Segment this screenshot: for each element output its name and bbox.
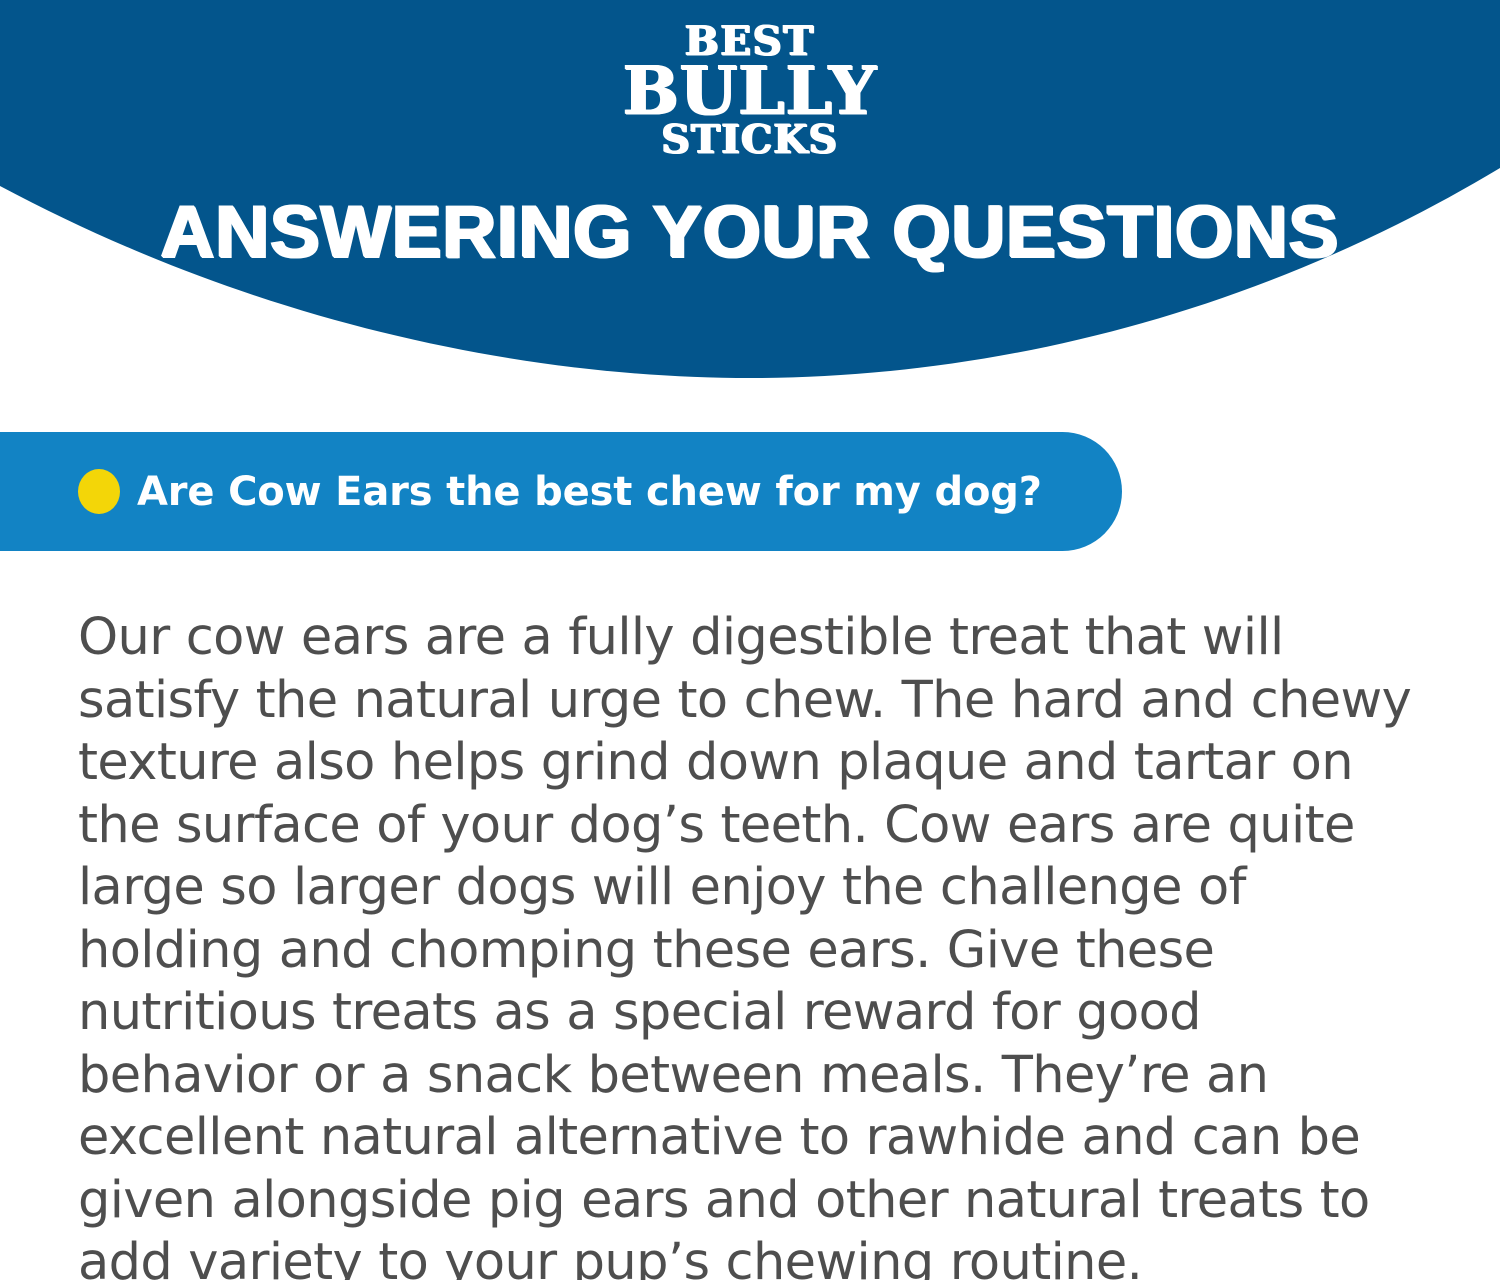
logo-line-bully: BULLY <box>0 58 1500 124</box>
faq-infographic-page: BEST BULLY STICKS ANSWERING YOUR QUESTIO… <box>0 0 1500 1280</box>
faq-answer-text: Our cow ears are a fully digestible trea… <box>78 607 1426 1280</box>
faq-question-bar[interactable]: Are Cow Ears the best chew for my dog? <box>0 432 1122 551</box>
header-banner: BEST BULLY STICKS ANSWERING YOUR QUESTIO… <box>0 0 1500 400</box>
page-title: ANSWERING YOUR QUESTIONS <box>0 196 1500 269</box>
header-shape <box>0 0 1500 400</box>
brand-logo: BEST BULLY STICKS <box>0 22 1500 160</box>
logo-line-sticks: STICKS <box>0 121 1500 160</box>
yellow-dot-icon <box>78 469 120 514</box>
logo-line-best: BEST <box>0 22 1500 62</box>
faq-question-text: Are Cow Ears the best chew for my dog? <box>137 472 1042 512</box>
